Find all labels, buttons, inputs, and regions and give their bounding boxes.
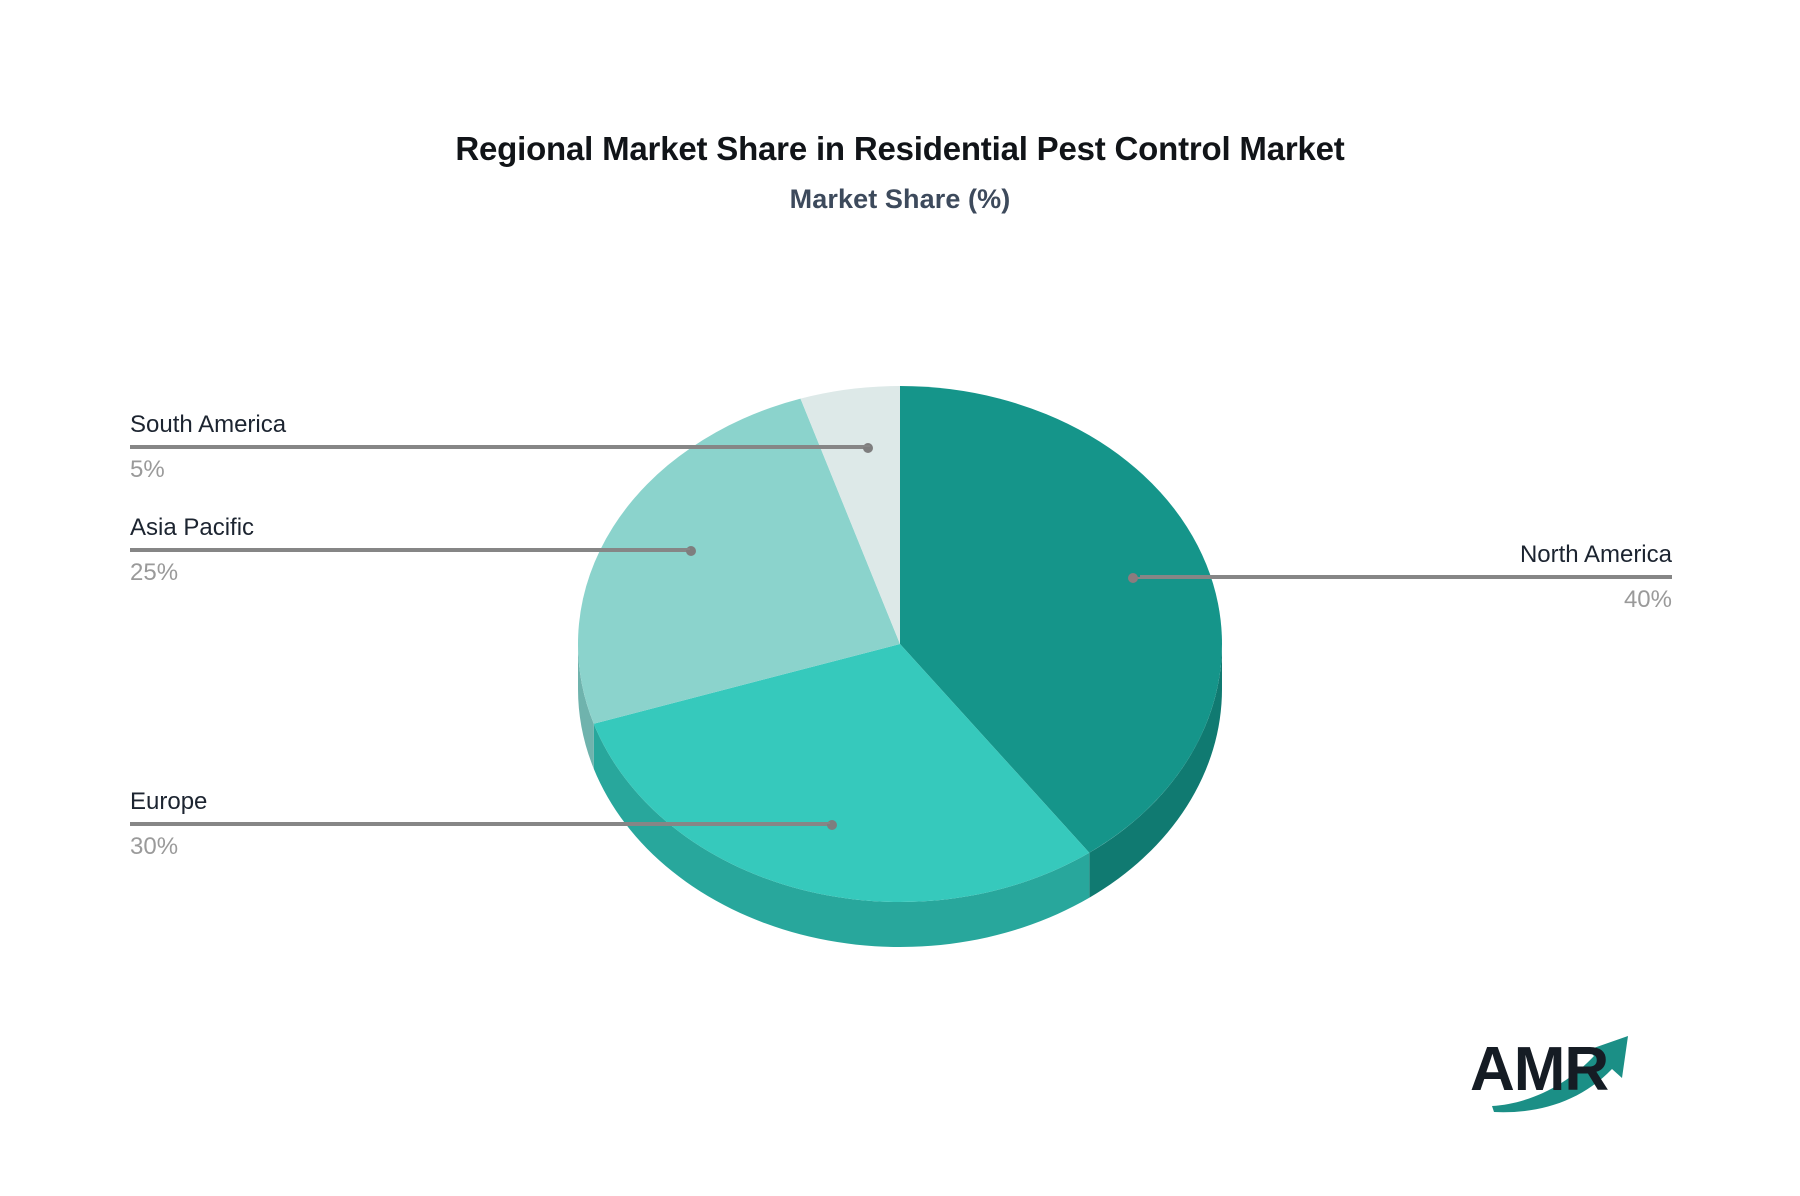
callout-rule-south-america — [130, 445, 870, 447]
callout-north-america: North America 40% — [1140, 540, 1672, 615]
callout-label-asia-pacific: Asia Pacific — [130, 513, 690, 543]
callout-label-europe: Europe — [130, 787, 830, 817]
amr-wordmark: AMR — [1470, 1035, 1608, 1104]
callout-value-south-america: 5% — [130, 455, 870, 485]
callout-asia-pacific: Asia Pacific 25% — [130, 513, 690, 588]
callout-value-europe: 30% — [130, 832, 830, 862]
callout-label-north-america: North America — [1140, 540, 1672, 570]
callout-rule-europe — [130, 822, 830, 824]
chart-canvas: Regional Market Share in Residential Pes… — [0, 0, 1800, 1196]
leader-marker-north-america — [1128, 573, 1138, 583]
callout-value-asia-pacific: 25% — [130, 558, 690, 588]
callout-rule-north-america — [1140, 575, 1672, 577]
callout-value-north-america: 40% — [1140, 585, 1672, 615]
callout-label-south-america: South America — [130, 410, 870, 440]
amr-logo: AMR — [1470, 1028, 1660, 1114]
callout-rule-asia-pacific — [130, 548, 690, 550]
callout-europe: Europe 30% — [130, 787, 830, 862]
callout-south-america: South America 5% — [130, 410, 870, 485]
